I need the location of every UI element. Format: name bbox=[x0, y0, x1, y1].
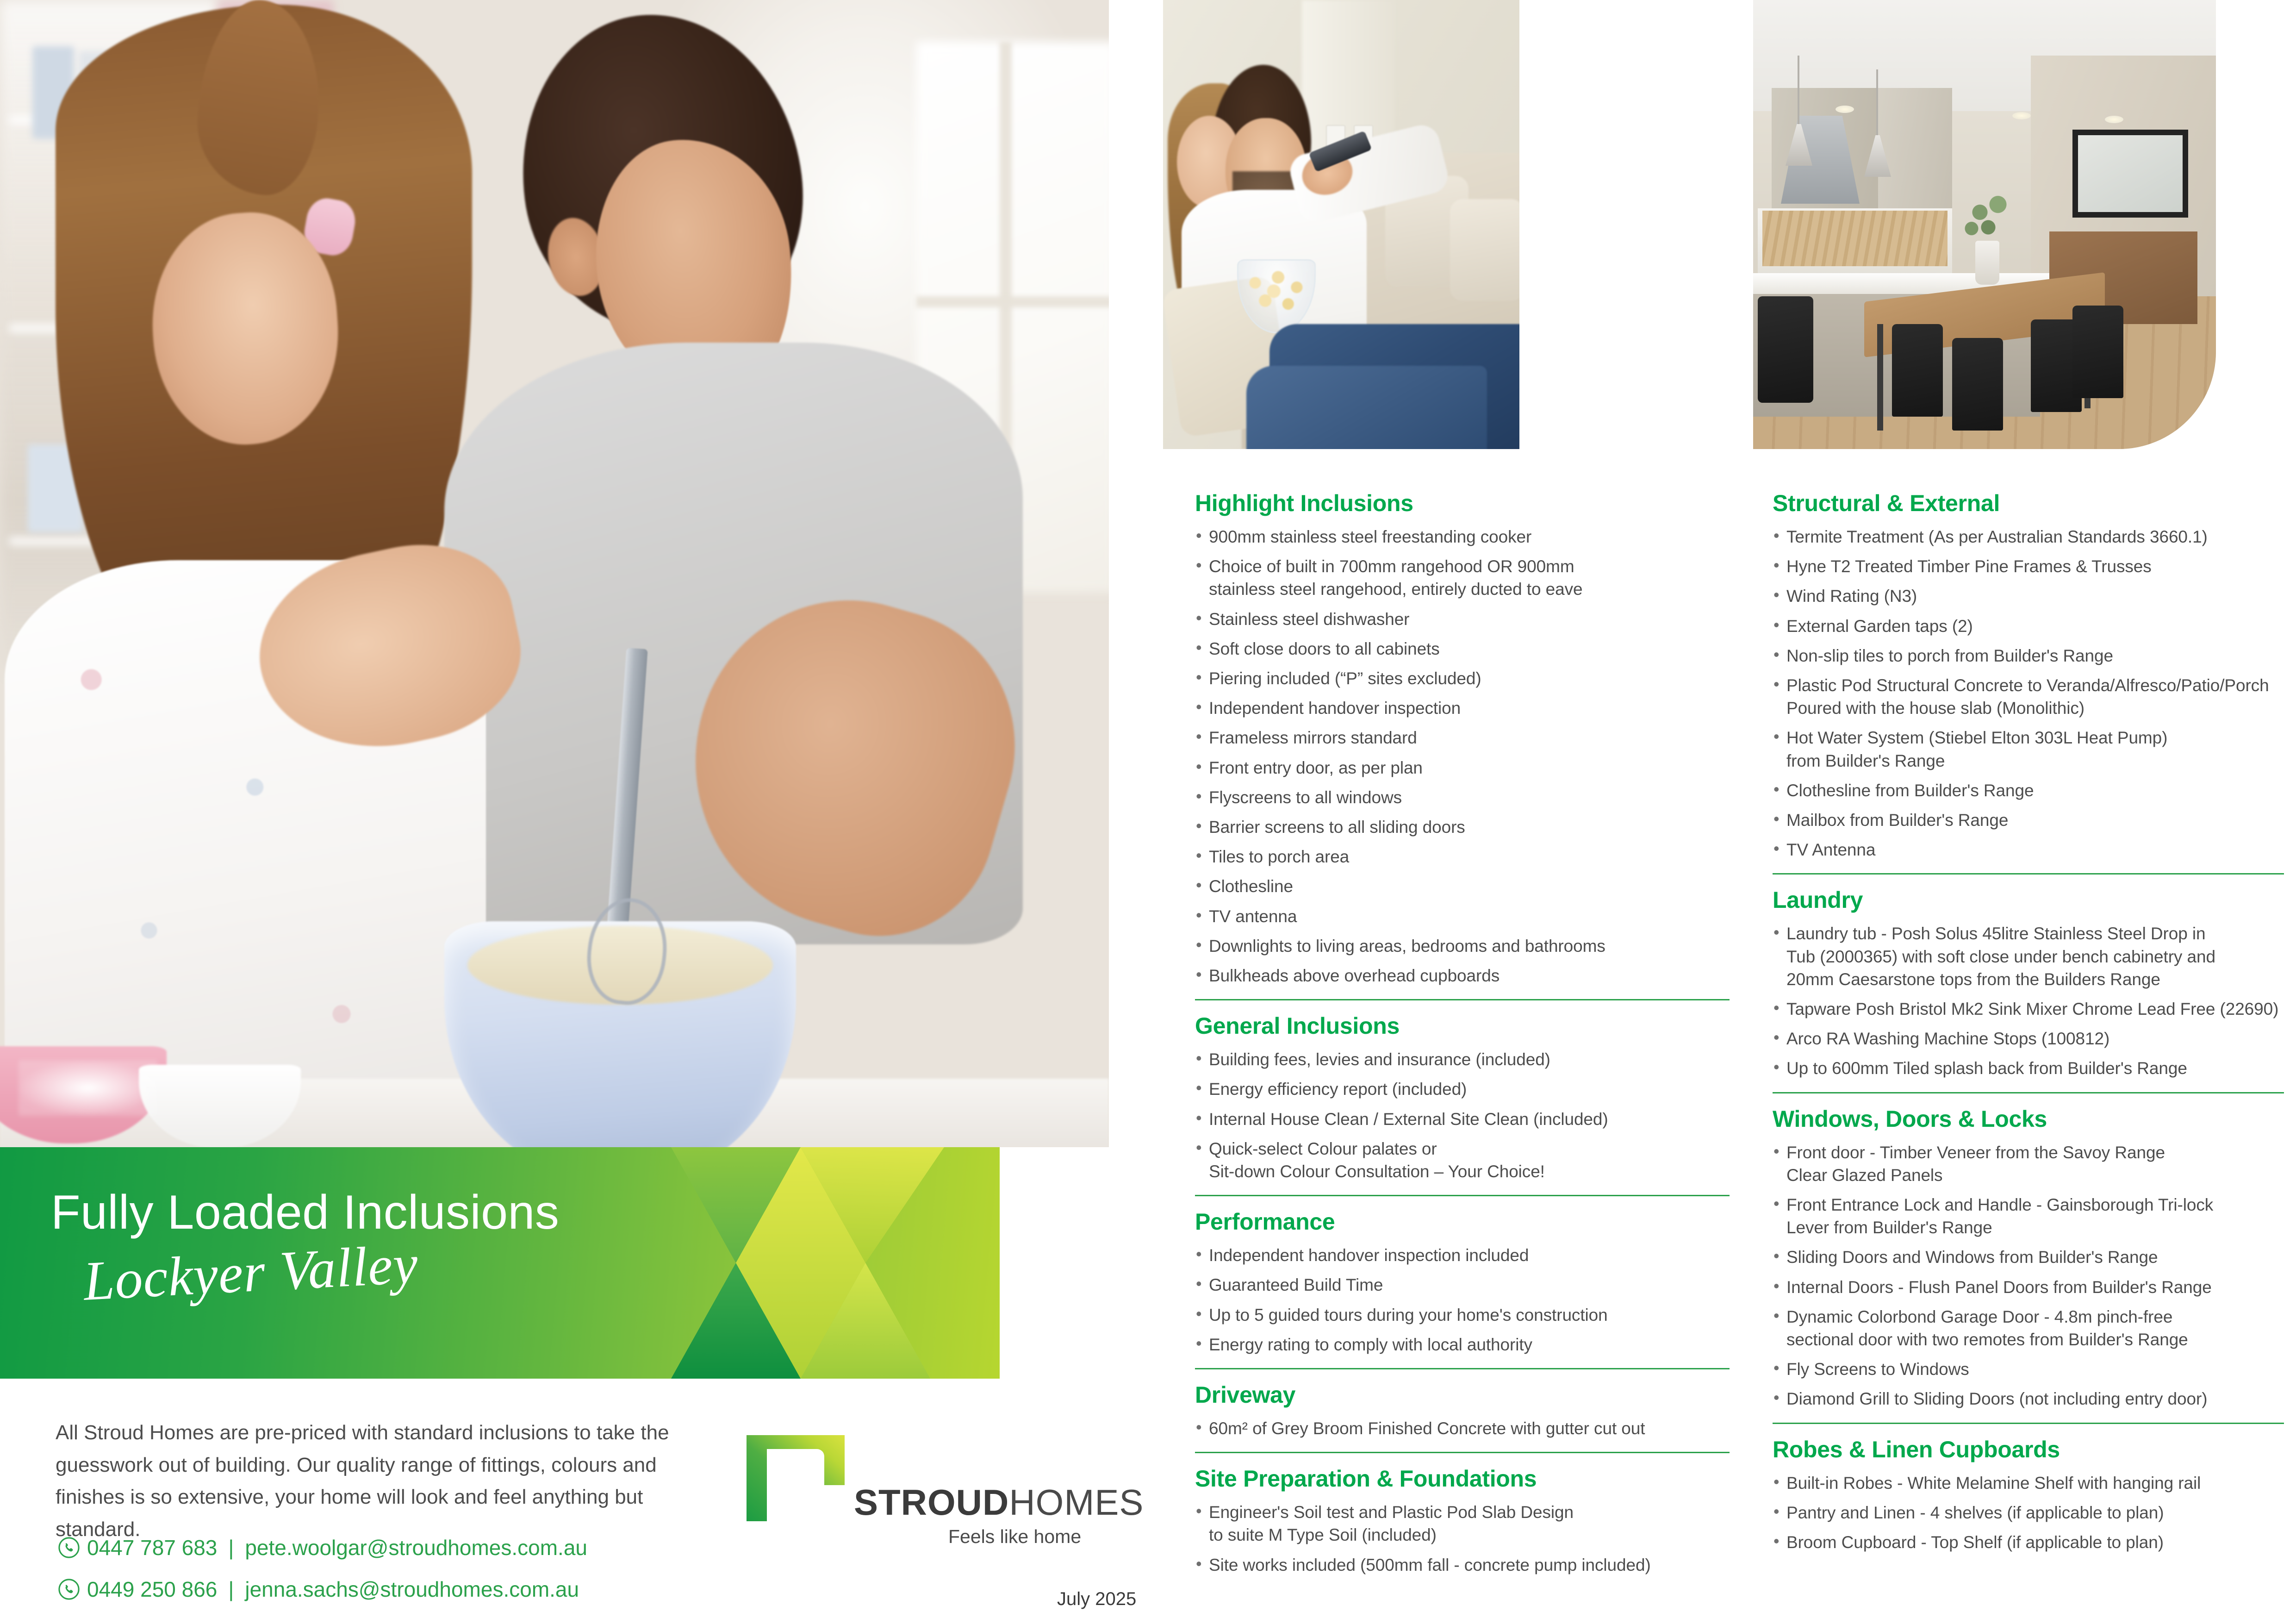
list-item-text: Energy rating to comply with local autho… bbox=[1209, 1335, 1532, 1354]
section-divider bbox=[1773, 1092, 2284, 1093]
list-item: Independent handover inspection bbox=[1195, 697, 1730, 719]
list-item-text: TV antenna bbox=[1209, 907, 1297, 926]
date-stamp: July 2025 bbox=[1057, 1589, 1136, 1610]
stroud-homes-logo: STROUDHOMES Feels like home bbox=[747, 1435, 1117, 1555]
list-item: Front door - Timber Veneer from the Savo… bbox=[1773, 1141, 2284, 1187]
list-item: Hyne T2 Treated Timber Pine Frames & Tru… bbox=[1773, 555, 2284, 578]
list-item-text: Front entry door, as per plan bbox=[1209, 758, 1423, 777]
list-item-text: Up to 600mm Tiled splash back from Build… bbox=[1786, 1059, 2187, 1078]
list-item-text-continued: from Builder's Range bbox=[1786, 750, 2284, 772]
list-item: TV Antenna bbox=[1773, 838, 2284, 861]
list-item-text: Non-slip tiles to porch from Builder's R… bbox=[1786, 646, 2113, 665]
list-item: Barrier screens to all sliding doors bbox=[1195, 816, 1730, 838]
list-item-text: Frameless mirrors standard bbox=[1209, 728, 1417, 747]
inclusions-section: LaundryLaundry tub - Posh Solus 45litre … bbox=[1773, 887, 2284, 1080]
list-item-text: Internal Doors - Flush Panel Doors from … bbox=[1786, 1278, 2212, 1297]
chevron-graphic bbox=[666, 1147, 1000, 1379]
section-title: General Inclusions bbox=[1195, 1013, 1730, 1039]
inclusions-list: Independent handover inspection included… bbox=[1195, 1244, 1730, 1356]
list-item-text: Piering included (“P” sites excluded) bbox=[1209, 669, 1481, 688]
list-item: Independent handover inspection included bbox=[1195, 1244, 1730, 1267]
inclusions-list: Engineer's Soil test and Plastic Pod Sla… bbox=[1195, 1501, 1730, 1576]
list-item-text: Downlights to living areas, bedrooms and… bbox=[1209, 937, 1605, 956]
section-divider bbox=[1773, 873, 2284, 874]
logo-mark-icon bbox=[747, 1435, 845, 1521]
photo-couple-watching-tv bbox=[1163, 0, 1519, 449]
inclusions-list: Termite Treatment (As per Australian Sta… bbox=[1773, 525, 2284, 861]
section-divider bbox=[1195, 1195, 1730, 1196]
list-item-text: Fly Screens to Windows bbox=[1786, 1360, 1969, 1379]
list-item-text: Internal House Clean / External Site Cle… bbox=[1209, 1110, 1608, 1129]
list-item-text-continued: sectional door with two remotes from Bui… bbox=[1786, 1328, 2284, 1351]
list-item: Stainless steel dishwasher bbox=[1195, 608, 1730, 631]
section-title: Highlight Inclusions bbox=[1195, 491, 1730, 516]
list-item: Dynamic Colorbond Garage Door - 4.8m pin… bbox=[1773, 1305, 2284, 1351]
list-item: Energy efficiency report (included) bbox=[1195, 1078, 1730, 1100]
section-divider bbox=[1195, 999, 1730, 1000]
list-item: Piering included (“P” sites excluded) bbox=[1195, 667, 1730, 690]
list-item: Choice of built in 700mm rangehood OR 90… bbox=[1195, 555, 1730, 600]
list-item-text: Bulkheads above overhead cupboards bbox=[1209, 966, 1500, 985]
list-item-text: Tapware Posh Bristol Mk2 Sink Mixer Chro… bbox=[1786, 999, 2278, 1018]
list-item: Downlights to living areas, bedrooms and… bbox=[1195, 935, 1730, 957]
section-title: Structural & External bbox=[1773, 491, 2284, 516]
list-item: TV antenna bbox=[1195, 905, 1730, 928]
list-item-text: Engineer's Soil test and Plastic Pod Sla… bbox=[1209, 1503, 1574, 1522]
inclusions-section: Driveway60m² of Grey Broom Finished Conc… bbox=[1195, 1382, 1730, 1440]
list-item-text: Building fees, levies and insurance (inc… bbox=[1209, 1050, 1550, 1069]
inclusions-list: 60m² of Grey Broom Finished Concrete wit… bbox=[1195, 1417, 1730, 1440]
list-item-text: Pantry and Linen - 4 shelves (if applica… bbox=[1786, 1503, 2164, 1522]
list-item: Up to 600mm Tiled splash back from Build… bbox=[1773, 1057, 2284, 1080]
list-item-text: Site works included (500mm fall - concre… bbox=[1209, 1555, 1651, 1574]
list-item-text-continued: 20mm Caesarstone tops from the Builders … bbox=[1786, 968, 2284, 991]
list-item: Engineer's Soil test and Plastic Pod Sla… bbox=[1195, 1501, 1730, 1546]
list-item: Mailbox from Builder's Range bbox=[1773, 809, 2284, 831]
list-item: External Garden taps (2) bbox=[1773, 615, 2284, 637]
list-item-text: Flyscreens to all windows bbox=[1209, 788, 1402, 807]
inclusions-section: General InclusionsBuilding fees, levies … bbox=[1195, 1013, 1730, 1183]
list-item: Tapware Posh Bristol Mk2 Sink Mixer Chro… bbox=[1773, 998, 2284, 1020]
list-item-text: Independent handover inspection bbox=[1209, 699, 1461, 718]
list-item-text: Clothesline bbox=[1209, 877, 1293, 896]
section-divider bbox=[1195, 1452, 1730, 1453]
contact-phone[interactable]: 0449 250 866 bbox=[87, 1577, 217, 1602]
logo-tagline: Feels like home bbox=[948, 1526, 1081, 1548]
list-item-text: Clothesline from Builder's Range bbox=[1786, 781, 2034, 800]
section-title: Site Preparation & Foundations bbox=[1195, 1466, 1730, 1492]
list-item-text-continued: Sit-down Colour Consultation – Your Choi… bbox=[1209, 1160, 1730, 1183]
list-item: 60m² of Grey Broom Finished Concrete wit… bbox=[1195, 1417, 1730, 1440]
list-item-text: Front door - Timber Veneer from the Savo… bbox=[1786, 1143, 2165, 1162]
list-item-text: Hyne T2 Treated Timber Pine Frames & Tru… bbox=[1786, 557, 2152, 576]
list-item-text: Dynamic Colorbond Garage Door - 4.8m pin… bbox=[1786, 1307, 2172, 1326]
contact-separator: | bbox=[224, 1577, 237, 1602]
list-item: Fly Screens to Windows bbox=[1773, 1358, 2284, 1380]
contact-email[interactable]: jenna.sachs@stroudhomes.com.au bbox=[245, 1577, 579, 1602]
list-item-text-continued: Poured with the house slab (Monolithic) bbox=[1786, 697, 2284, 719]
list-item-text: External Garden taps (2) bbox=[1786, 617, 1973, 636]
list-item: Frameless mirrors standard bbox=[1195, 726, 1730, 749]
inclusions-list: 900mm stainless steel freestanding cooke… bbox=[1195, 525, 1730, 987]
list-item-text: Up to 5 guided tours during your home's … bbox=[1209, 1305, 1608, 1324]
list-item-text: Barrier screens to all sliding doors bbox=[1209, 818, 1465, 837]
photo-kitchen-dining bbox=[1753, 0, 2216, 449]
section-title: Windows, Doors & Locks bbox=[1773, 1106, 2284, 1132]
list-item: Diamond Grill to Sliding Doors (not incl… bbox=[1773, 1387, 2284, 1410]
inclusions-list: Built-in Robes - White Melamine Shelf wi… bbox=[1773, 1472, 2284, 1554]
list-item-text: TV Antenna bbox=[1786, 840, 1875, 859]
list-item: Hot Water System (Stiebel Elton 303L Hea… bbox=[1773, 726, 2284, 772]
section-divider bbox=[1195, 1368, 1730, 1369]
logo-wordmark: STROUDHOMES bbox=[854, 1481, 1144, 1524]
list-item-text: Tiles to porch area bbox=[1209, 847, 1349, 866]
contact-row-1[interactable]: 0447 787 683 | pete.woolgar@stroudhomes.… bbox=[58, 1535, 587, 1560]
hero-photo-father-daughter-baking bbox=[0, 0, 1109, 1147]
list-item-text: Arco RA Washing Machine Stops (100812) bbox=[1786, 1029, 2109, 1048]
list-item-text: Sliding Doors and Windows from Builder's… bbox=[1786, 1248, 2158, 1267]
list-item-text: Diamond Grill to Sliding Doors (not incl… bbox=[1786, 1389, 2207, 1408]
list-item: Building fees, levies and insurance (inc… bbox=[1195, 1048, 1730, 1071]
list-item: Wind Rating (N3) bbox=[1773, 585, 2284, 607]
list-item-text: Independent handover inspection included bbox=[1209, 1246, 1529, 1265]
list-item: Guaranteed Build Time bbox=[1195, 1274, 1730, 1296]
list-item: Internal Doors - Flush Panel Doors from … bbox=[1773, 1276, 2284, 1299]
list-item-text: Termite Treatment (As per Australian Sta… bbox=[1786, 527, 2208, 546]
list-item: Clothesline bbox=[1195, 875, 1730, 898]
list-item-text: 60m² of Grey Broom Finished Concrete wit… bbox=[1209, 1419, 1645, 1438]
inclusions-list: Building fees, levies and insurance (inc… bbox=[1195, 1048, 1730, 1183]
inclusions-section: Site Preparation & FoundationsEngineer's… bbox=[1195, 1466, 1730, 1576]
list-item: Pantry and Linen - 4 shelves (if applica… bbox=[1773, 1501, 2284, 1524]
list-item-text: Energy efficiency report (included) bbox=[1209, 1080, 1467, 1099]
list-item: Arco RA Washing Machine Stops (100812) bbox=[1773, 1027, 2284, 1050]
list-item-text-continued: to suite M Type Soil (included) bbox=[1209, 1524, 1730, 1546]
contact-email[interactable]: pete.woolgar@stroudhomes.com.au bbox=[245, 1535, 587, 1560]
list-item-text: Choice of built in 700mm rangehood OR 90… bbox=[1209, 557, 1574, 576]
list-item: Internal House Clean / External Site Cle… bbox=[1195, 1108, 1730, 1131]
list-item-text: Mailbox from Builder's Range bbox=[1786, 811, 2008, 830]
phone-icon bbox=[58, 1579, 80, 1600]
logo-word-light: HOMES bbox=[1009, 1482, 1144, 1523]
inclusions-section: Windows, Doors & LocksFront door - Timbe… bbox=[1773, 1106, 2284, 1411]
inclusions-column-right: Structural & ExternalTermite Treatment (… bbox=[1773, 491, 2284, 1561]
inclusions-column-middle: Highlight Inclusions900mm stainless stee… bbox=[1195, 491, 1730, 1583]
list-item-text: Quick-select Colour palates or bbox=[1209, 1139, 1437, 1158]
list-item-text: Guaranteed Build Time bbox=[1209, 1275, 1383, 1294]
list-item: 900mm stainless steel freestanding cooke… bbox=[1195, 525, 1730, 548]
list-item-text-continued: Tub (2000365) with soft close under benc… bbox=[1786, 945, 2284, 968]
list-item: Up to 5 guided tours during your home's … bbox=[1195, 1304, 1730, 1326]
list-item-text: Wind Rating (N3) bbox=[1786, 587, 1917, 606]
list-item-text: Soft close doors to all cabinets bbox=[1209, 639, 1440, 658]
list-item: Tiles to porch area bbox=[1195, 845, 1730, 868]
list-item: Quick-select Colour palates orSit-down C… bbox=[1195, 1137, 1730, 1183]
list-item-text: Broom Cupboard - Top Shelf (if applicabl… bbox=[1786, 1533, 2164, 1552]
list-item: Sliding Doors and Windows from Builder's… bbox=[1773, 1246, 2284, 1268]
inclusions-section: Robes & Linen CupboardsBuilt-in Robes - … bbox=[1773, 1437, 2284, 1554]
list-item: Soft close doors to all cabinets bbox=[1195, 637, 1730, 660]
banner-title: Fully Loaded Inclusions bbox=[51, 1185, 559, 1240]
inclusions-section: Structural & ExternalTermite Treatment (… bbox=[1773, 491, 2284, 861]
list-item-text-continued: Lever from Builder's Range bbox=[1786, 1216, 2284, 1239]
list-item-text: Stainless steel dishwasher bbox=[1209, 610, 1409, 629]
section-divider bbox=[1773, 1423, 2284, 1424]
list-item: Site works included (500mm fall - concre… bbox=[1195, 1554, 1730, 1576]
inclusions-section: Highlight Inclusions900mm stainless stee… bbox=[1195, 491, 1730, 987]
phone-icon bbox=[58, 1537, 80, 1558]
intro-blurb: All Stroud Homes are pre-priced with sta… bbox=[56, 1417, 722, 1545]
list-item: Non-slip tiles to porch from Builder's R… bbox=[1773, 644, 2284, 667]
section-title: Robes & Linen Cupboards bbox=[1773, 1437, 2284, 1462]
list-item: Front entry door, as per plan bbox=[1195, 756, 1730, 779]
list-item: Energy rating to comply with local autho… bbox=[1195, 1333, 1730, 1356]
logo-word-bold: STROUD bbox=[854, 1482, 1009, 1523]
list-item-text-continued: stainless steel rangehood, entirely duct… bbox=[1209, 578, 1730, 600]
section-title: Laundry bbox=[1773, 887, 2284, 913]
list-item-text: Plastic Pod Structural Concrete to Veran… bbox=[1786, 676, 2269, 695]
list-item: Clothesline from Builder's Range bbox=[1773, 779, 2284, 802]
inclusions-list: Front door - Timber Veneer from the Savo… bbox=[1773, 1141, 2284, 1411]
inclusions-list: Laundry tub - Posh Solus 45litre Stainle… bbox=[1773, 922, 2284, 1080]
list-item: Laundry tub - Posh Solus 45litre Stainle… bbox=[1773, 922, 2284, 991]
list-item: Bulkheads above overhead cupboards bbox=[1195, 964, 1730, 987]
list-item-text-continued: Clear Glazed Panels bbox=[1786, 1164, 2284, 1187]
contact-phone[interactable]: 0447 787 683 bbox=[87, 1535, 217, 1560]
list-item: Flyscreens to all windows bbox=[1195, 786, 1730, 809]
inclusions-section: PerformanceIndependent handover inspecti… bbox=[1195, 1209, 1730, 1356]
contact-row-2[interactable]: 0449 250 866 | jenna.sachs@stroudhomes.c… bbox=[58, 1577, 579, 1602]
contact-separator: | bbox=[224, 1535, 237, 1560]
section-title: Performance bbox=[1195, 1209, 1730, 1235]
list-item: Plastic Pod Structural Concrete to Veran… bbox=[1773, 674, 2284, 719]
list-item-text: Laundry tub - Posh Solus 45litre Stainle… bbox=[1786, 924, 2206, 943]
list-item-text: Built-in Robes - White Melamine Shelf wi… bbox=[1786, 1474, 2201, 1493]
brochure-page: Fully Loaded Inclusions Lockyer Valley A… bbox=[0, 0, 2296, 1624]
list-item: Broom Cupboard - Top Shelf (if applicabl… bbox=[1773, 1531, 2284, 1554]
section-title: Driveway bbox=[1195, 1382, 1730, 1408]
list-item-text: 900mm stainless steel freestanding cooke… bbox=[1209, 527, 1531, 546]
list-item-text: Hot Water System (Stiebel Elton 303L Hea… bbox=[1786, 728, 2167, 747]
list-item: Built-in Robes - White Melamine Shelf wi… bbox=[1773, 1472, 2284, 1494]
list-item: Front Entrance Lock and Handle - Gainsbo… bbox=[1773, 1193, 2284, 1239]
list-item: Termite Treatment (As per Australian Sta… bbox=[1773, 525, 2284, 548]
list-item-text: Front Entrance Lock and Handle - Gainsbo… bbox=[1786, 1195, 2213, 1214]
